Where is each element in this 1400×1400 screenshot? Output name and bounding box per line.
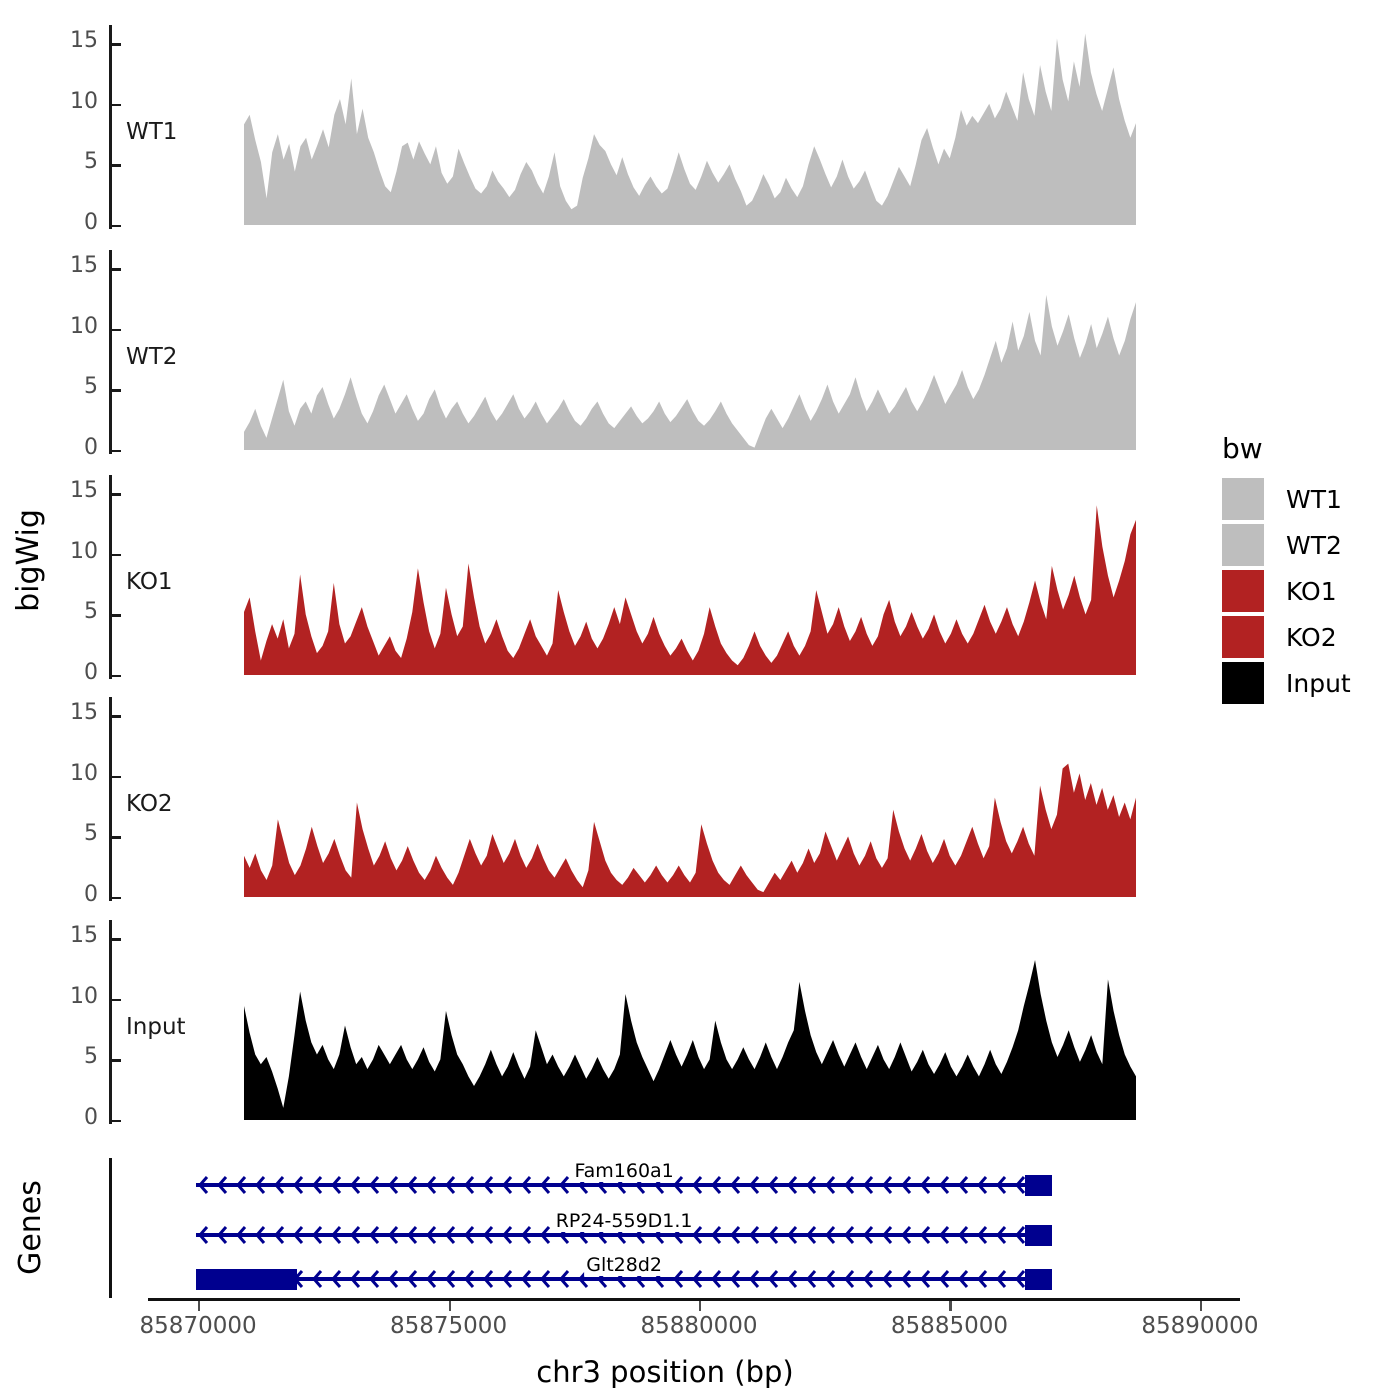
gene-row[interactable]: RP24-559D1.1 xyxy=(0,1218,1400,1252)
gene-row[interactable]: Fam160a1 xyxy=(0,1168,1400,1202)
legend: bw WT1WT2KO1KO2Input xyxy=(1222,432,1397,707)
x-tick-label: 85870000 xyxy=(140,1313,257,1339)
legend-item-ko1[interactable]: KO1 xyxy=(1222,569,1397,613)
x-tick xyxy=(949,1301,951,1311)
legend-item-ko2[interactable]: KO2 xyxy=(1222,615,1397,659)
track-panel-input: 051015Input xyxy=(0,920,1160,1134)
wig-area-ko2 xyxy=(0,697,1160,903)
legend-item-input[interactable]: Input xyxy=(1222,661,1397,705)
legend-title: bw xyxy=(1222,432,1397,465)
track-panel-wt1: 051015WT1 xyxy=(0,25,1160,239)
gene-name-label: Fam160a1 xyxy=(572,1160,675,1182)
gene-name-label: RP24-559D1.1 xyxy=(554,1210,695,1232)
wig-area-ko1 xyxy=(0,475,1160,681)
legend-item-label: KO1 xyxy=(1286,577,1337,606)
gene-row[interactable]: Glt28d2 xyxy=(0,1262,1400,1296)
legend-color-swatch xyxy=(1222,524,1264,566)
x-axis-title: chr3 position (bp) xyxy=(0,1355,1330,1389)
legend-item-wt2[interactable]: WT2 xyxy=(1222,523,1397,567)
x-tick xyxy=(699,1301,701,1311)
track-panel-ko1: 051015KO1 xyxy=(0,475,1160,689)
x-tick-label: 85885000 xyxy=(891,1313,1008,1339)
gene-exon-block xyxy=(1025,1175,1053,1196)
x-tick-label: 85880000 xyxy=(640,1313,757,1339)
gene-exon-block xyxy=(1025,1269,1053,1290)
track-panel-wt2: 051015WT2 xyxy=(0,250,1160,464)
track-panel-ko2: 051015KO2 xyxy=(0,697,1160,911)
legend-color-swatch xyxy=(1222,478,1264,520)
legend-color-swatch xyxy=(1222,616,1264,658)
x-tick-label: 85890000 xyxy=(1141,1313,1258,1339)
wig-area-wt1 xyxy=(0,25,1160,231)
gene-exon-block xyxy=(196,1269,297,1290)
wig-area-input xyxy=(0,920,1160,1126)
legend-color-swatch xyxy=(1222,570,1264,612)
x-tick-label: 85875000 xyxy=(390,1313,507,1339)
x-tick xyxy=(1200,1301,1202,1311)
x-tick xyxy=(449,1301,451,1311)
legend-item-label: KO2 xyxy=(1286,623,1337,652)
gene-name-label: Glt28d2 xyxy=(584,1254,664,1276)
x-axis-line xyxy=(148,1298,1240,1301)
legend-item-label: Input xyxy=(1286,669,1351,698)
wig-area-wt2 xyxy=(0,250,1160,456)
legend-items: WT1WT2KO1KO2Input xyxy=(1222,477,1397,705)
genome-browser-figure: bigWig Genes 051015WT1051015WT2051015KO1… xyxy=(0,0,1400,1400)
legend-item-label: WT2 xyxy=(1286,531,1342,560)
x-tick xyxy=(198,1301,200,1311)
legend-item-wt1[interactable]: WT1 xyxy=(1222,477,1397,521)
gene-exon-block xyxy=(1025,1225,1053,1246)
legend-item-label: WT1 xyxy=(1286,485,1342,514)
legend-color-swatch xyxy=(1222,662,1264,704)
